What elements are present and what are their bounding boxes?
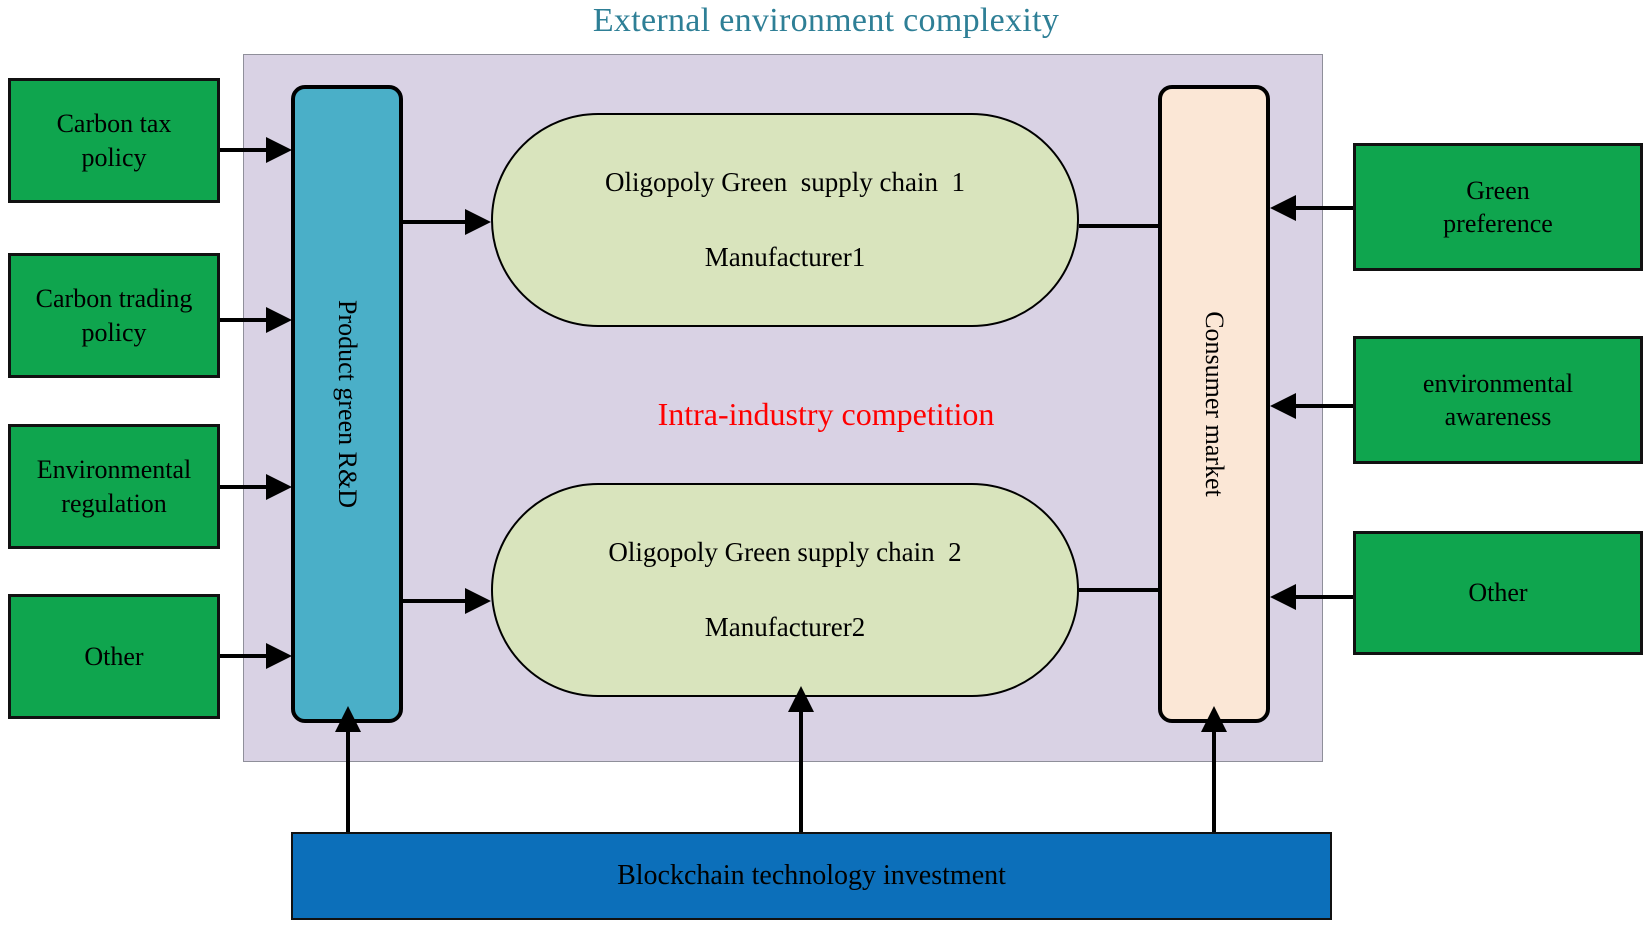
input-box-green-preference[interactable]: Green preference [1353, 143, 1643, 271]
input-label: Other [84, 640, 143, 673]
supply-chain-1[interactable]: Oligopoly Green supply chain 1 Manufactu… [491, 113, 1079, 327]
diagram-canvas: External environment complexity Carbon t… [0, 0, 1652, 945]
input-label: Green preference [1443, 174, 1553, 241]
input-label: environmental awareness [1423, 367, 1573, 434]
blockchain-label: Blockchain technology investment [617, 860, 1006, 892]
supply-chain-2[interactable]: Oligopoly Green supply chain 2 Manufactu… [491, 483, 1079, 697]
supply-chain-1-title: Oligopoly Green supply chain 1 [605, 167, 965, 198]
input-label: Other [1468, 576, 1527, 609]
pillar-label: Consumer market [1199, 311, 1229, 497]
input-box-carbon-trading-policy[interactable]: Carbon trading policy [8, 253, 220, 378]
diagram-title: External environment complexity [0, 2, 1652, 40]
input-label: Carbon trading policy [36, 282, 193, 349]
input-box-other-right[interactable]: Other [1353, 531, 1643, 655]
input-box-environmental-awareness[interactable]: environmental awareness [1353, 336, 1643, 464]
supply-chain-2-manufacturer: Manufacturer2 [705, 612, 865, 643]
supply-chain-2-title: Oligopoly Green supply chain 2 [608, 537, 961, 568]
consumer-market-pillar[interactable]: Consumer market [1158, 85, 1270, 723]
input-box-other-left[interactable]: Other [8, 594, 220, 719]
blockchain-investment-bar[interactable]: Blockchain technology investment [291, 832, 1332, 920]
input-label: Environmental regulation [37, 453, 192, 520]
input-box-environmental-regulation[interactable]: Environmental regulation [8, 424, 220, 549]
input-label: Carbon tax policy [57, 107, 172, 174]
supply-chain-1-manufacturer: Manufacturer1 [705, 242, 865, 273]
input-box-carbon-tax-policy[interactable]: Carbon tax policy [8, 78, 220, 203]
